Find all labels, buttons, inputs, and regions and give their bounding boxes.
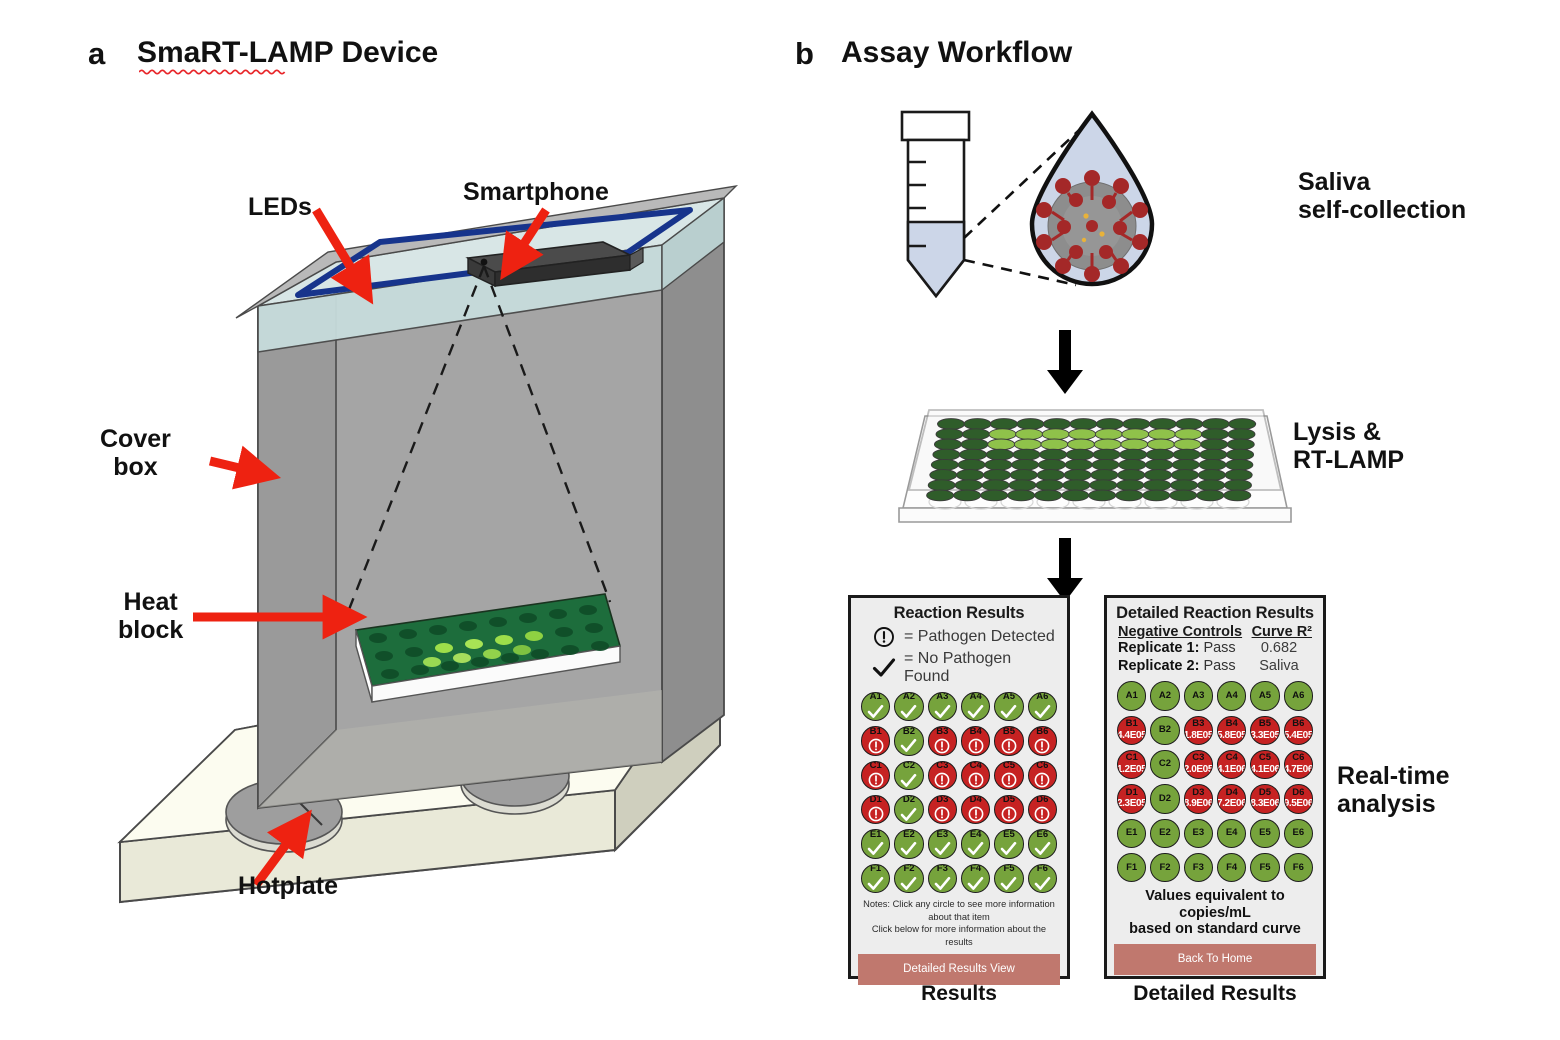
well-id-label: A5 (1003, 692, 1015, 702)
spellcheck-underline-icon (139, 68, 434, 75)
well-a3[interactable]: A3 (928, 692, 957, 721)
well-e2[interactable]: E2 (1150, 819, 1179, 848)
results-well-grid[interactable]: A1A2A3A4A5A6B1B2B3B4B5B6C1C2C3C4C5C6D1D2… (858, 692, 1060, 893)
label-saliva-self-collection: Saliva self-collection (1298, 168, 1498, 224)
well-id-label: A5 (1259, 691, 1271, 701)
well-id-label: E2 (903, 830, 915, 840)
well-d4[interactable]: D4 (961, 795, 990, 824)
replicate-1-value: Pass (1203, 640, 1235, 656)
results-title: Reaction Results (858, 604, 1060, 623)
well-a4[interactable]: A4 (1217, 681, 1246, 710)
well-a2[interactable]: A2 (1150, 681, 1179, 710)
saliva-collection-illustration (880, 100, 1300, 330)
well-id-label: B5 (1259, 719, 1271, 729)
well-id-label: A6 (1036, 692, 1048, 702)
checkmark-icon (1034, 703, 1051, 720)
well-concentration-value: 7.2E06 (1217, 799, 1246, 809)
detailed-results-caption: Detailed Results (1104, 982, 1326, 1006)
well-a3[interactable]: A3 (1184, 681, 1213, 710)
well-a6[interactable]: A6 (1028, 692, 1057, 721)
panel-b-letter: b (795, 36, 814, 72)
well-id-label: E5 (1003, 830, 1015, 840)
well-id-label: E4 (1226, 828, 1238, 838)
well-c5[interactable]: C54.1E06 (1250, 750, 1279, 779)
well-e2[interactable]: E2 (894, 829, 923, 858)
well-id-label: D4 (970, 795, 982, 805)
well-id-label: D5 (1259, 788, 1271, 798)
well-b4[interactable]: B4 (961, 726, 990, 755)
exclamation-circle-icon (1034, 806, 1051, 823)
well-a5[interactable]: A5 (1250, 681, 1279, 710)
checkmark-icon (900, 772, 917, 789)
well-concentration-value: 4.1E06 (1217, 765, 1246, 775)
well-concentration-value: 5.4E05 (1284, 731, 1313, 741)
well-concentration-value: 1.8E05 (1184, 731, 1213, 741)
checkmark-icon (934, 875, 951, 892)
well-d5[interactable]: D5 (994, 795, 1023, 824)
well-id-label: B2 (1159, 725, 1171, 735)
well-id-label: B6 (1036, 727, 1048, 737)
well-id-label: C4 (970, 761, 982, 771)
well-b6[interactable]: B6 (1028, 726, 1057, 755)
well-c6[interactable]: C64.7E06 (1284, 750, 1313, 779)
exclamation-circle-icon (934, 806, 951, 823)
well-id-label: F4 (1226, 863, 1237, 873)
checkmark-icon (967, 840, 984, 857)
callout-heat-block: Heat block (118, 588, 183, 644)
replicate-2-value: Pass (1203, 658, 1235, 674)
well-f5[interactable]: F5 (994, 864, 1023, 893)
well-b5[interactable]: B53.3E05 (1250, 716, 1279, 745)
well-e4[interactable]: E4 (1217, 819, 1246, 848)
checkmark-icon (1000, 703, 1017, 720)
well-b1[interactable]: B14.4E05 (1117, 716, 1146, 745)
sample-type-value: Saliva (1248, 658, 1310, 676)
well-c5[interactable]: C5 (994, 761, 1023, 790)
well-c2[interactable]: C2 (1150, 750, 1179, 779)
checkmark-icon (900, 840, 917, 857)
well-concentration-value: 2.3E05 (1117, 799, 1146, 809)
checkmark-icon (900, 875, 917, 892)
well-id-label: C6 (1036, 761, 1048, 771)
well-c1[interactable]: C1 (861, 761, 890, 790)
well-id-label: E1 (1126, 828, 1138, 838)
well-concentration-value: 3.3E05 (1250, 731, 1279, 741)
well-id-label: F3 (1193, 863, 1204, 873)
well-concentration-value: 9.5E06 (1284, 799, 1313, 809)
well-id-label: F6 (1293, 863, 1304, 873)
results-screen[interactable]: Reaction Results = Pathogen Detected = N… (848, 595, 1070, 979)
detailed-well-grid[interactable]: A1A2A3A4A5A6B14.4E05B2B31.8E05B45.8E05B5… (1114, 681, 1316, 882)
well-id-label: F6 (1037, 864, 1048, 874)
well-id-label: C6 (1292, 753, 1304, 763)
well-c3[interactable]: C32.0E05 (1184, 750, 1213, 779)
exclamation-circle-icon (867, 772, 884, 789)
well-id-label: E1 (870, 830, 882, 840)
callout-leds: LEDs (248, 193, 312, 221)
well-id-label: A6 (1292, 691, 1304, 701)
well-c4[interactable]: C44.1E06 (1217, 750, 1246, 779)
well-f1[interactable]: F1 (861, 864, 890, 893)
replicate-1-row: Replicate 1: Pass 0.682 (1114, 640, 1316, 658)
panel-a-letter: a (88, 36, 105, 72)
well-id-label: C1 (870, 761, 882, 771)
exclamation-circle-icon (867, 737, 884, 754)
well-id-label: D3 (936, 795, 948, 805)
well-id-label: C2 (903, 761, 915, 771)
panel-a-title: SmaRT-LAMP Device (137, 36, 438, 70)
well-id-label: C3 (936, 761, 948, 771)
well-f1[interactable]: F1 (1117, 853, 1146, 882)
well-id-label: D1 (870, 795, 882, 805)
exclamation-circle-icon (1000, 737, 1017, 754)
back-to-home-button[interactable]: Back To Home (1114, 944, 1316, 975)
workflow-arrow-1-icon (1043, 330, 1087, 395)
well-id-label: E5 (1259, 828, 1271, 838)
label-lysis-rt-lamp: Lysis & RT-LAMP (1293, 418, 1493, 474)
well-e3[interactable]: E3 (1184, 819, 1213, 848)
replicate-2-label: Replicate 2: (1118, 658, 1199, 674)
well-b3[interactable]: B3 (928, 726, 957, 755)
well-id-label: B4 (1226, 719, 1238, 729)
exclamation-circle-icon (967, 772, 984, 789)
well-e5[interactable]: E5 (994, 829, 1023, 858)
well-concentration-value: 1.2E05 (1117, 765, 1146, 775)
well-e6[interactable]: E6 (1028, 829, 1057, 858)
well-d2[interactable]: D2 (894, 795, 923, 824)
well-a2[interactable]: A2 (894, 692, 923, 721)
well-id-label: A3 (1192, 691, 1204, 701)
well-id-label: C4 (1226, 753, 1238, 763)
well-id-label: B3 (936, 727, 948, 737)
well-id-label: D5 (1003, 795, 1015, 805)
checkmark-icon (900, 737, 917, 754)
well-id-label: A4 (1226, 691, 1238, 701)
well-f6[interactable]: F6 (1284, 853, 1313, 882)
well-id-label: E3 (1193, 828, 1205, 838)
well-f3[interactable]: F3 (928, 864, 957, 893)
legend-row-positive: = Pathogen Detected (872, 625, 1060, 649)
well-id-label: E6 (1293, 828, 1305, 838)
checkmark-icon (867, 840, 884, 857)
exclamation-circle-icon (1000, 772, 1017, 789)
well-id-label: B4 (970, 727, 982, 737)
well-id-label: C5 (1003, 761, 1015, 771)
well-id-label: B1 (870, 727, 882, 737)
well-d3[interactable]: D3 (928, 795, 957, 824)
well-f2[interactable]: F2 (894, 864, 923, 893)
well-id-label: E4 (970, 830, 982, 840)
well-id-label: B5 (1003, 727, 1015, 737)
results-caption: Results (848, 982, 1070, 1006)
well-id-label: D1 (1126, 788, 1138, 798)
well-c1[interactable]: C11.2E05 (1117, 750, 1146, 779)
smart-lamp-device-illustration (60, 90, 780, 950)
well-id-label: A3 (936, 692, 948, 702)
well-concentration-value: 4.4E05 (1117, 731, 1146, 741)
checkmark-icon (1000, 875, 1017, 892)
well-id-label: C1 (1126, 753, 1138, 763)
checkmark-icon (867, 703, 884, 720)
checkmark-icon (1034, 875, 1051, 892)
well-id-label: A1 (1126, 691, 1138, 701)
detailed-footnote: Values equivalent to copies/mL based on … (1114, 888, 1316, 938)
checkmark-icon (900, 806, 917, 823)
well-id-label: D6 (1292, 788, 1304, 798)
well-id-label: A4 (970, 692, 982, 702)
checkmark-icon (900, 703, 917, 720)
well-concentration-value: 4.7E06 (1284, 765, 1313, 775)
well-b4[interactable]: B45.8E05 (1217, 716, 1246, 745)
well-f2[interactable]: F2 (1150, 853, 1179, 882)
well-e1[interactable]: E1 (861, 829, 890, 858)
well-f4[interactable]: F4 (1217, 853, 1246, 882)
well-id-label: E3 (937, 830, 949, 840)
well-id-label: F3 (937, 864, 948, 874)
well-a6[interactable]: A6 (1284, 681, 1313, 710)
well-concentration-value: 8.3E06 (1250, 799, 1279, 809)
well-id-label: C3 (1192, 753, 1204, 763)
well-id-label: C2 (1159, 759, 1171, 769)
detailed-results-view-button[interactable]: Detailed Results View (858, 954, 1060, 985)
well-e1[interactable]: E1 (1117, 819, 1146, 848)
callout-smartphone: Smartphone (463, 178, 609, 206)
well-f5[interactable]: F5 (1250, 853, 1279, 882)
well-c3[interactable]: C3 (928, 761, 957, 790)
label-real-time-analysis: Real-time analysis (1337, 762, 1537, 818)
well-id-label: F2 (1159, 863, 1170, 873)
well-d6[interactable]: D69.5E06 (1284, 784, 1313, 813)
checkmark-icon (934, 703, 951, 720)
well-a1[interactable]: A1 (1117, 681, 1146, 710)
well-concentration-value: 5.8E05 (1217, 731, 1246, 741)
well-a5[interactable]: A5 (994, 692, 1023, 721)
well-id-label: B6 (1292, 719, 1304, 729)
detailed-subheaders: Negative Controls Curve R² (1114, 624, 1316, 640)
checkmark-icon (967, 703, 984, 720)
well-id-label: D3 (1192, 788, 1204, 798)
well-b3[interactable]: B31.8E05 (1184, 716, 1213, 745)
well-id-label: D2 (1159, 794, 1171, 804)
well-a1[interactable]: A1 (861, 692, 890, 721)
curve-r2-header: Curve R² (1252, 624, 1312, 640)
checkmark-icon (867, 875, 884, 892)
well-e5[interactable]: E5 (1250, 819, 1279, 848)
well-c2[interactable]: C2 (894, 761, 923, 790)
well-d1[interactable]: D1 (861, 795, 890, 824)
well-c6[interactable]: C6 (1028, 761, 1057, 790)
exclamation-circle-icon (867, 806, 884, 823)
exclamation-circle-icon (967, 806, 984, 823)
well-e6[interactable]: E6 (1284, 819, 1313, 848)
well-b1[interactable]: B1 (861, 726, 890, 755)
cover-box-arrow (210, 461, 260, 473)
well-id-label: F1 (870, 864, 881, 874)
detailed-title: Detailed Reaction Results (1114, 604, 1316, 623)
checkmark-icon (1000, 840, 1017, 857)
legend-text-positive: = Pathogen Detected (904, 628, 1055, 646)
callout-cover-box: Cover box (100, 425, 171, 481)
checkmark-icon (934, 840, 951, 857)
well-id-label: B3 (1192, 719, 1204, 729)
well-concentration-value: 4.1E06 (1250, 765, 1279, 775)
well-f6[interactable]: F6 (1028, 864, 1057, 893)
exclamation-circle-icon (872, 625, 896, 649)
well-id-label: A2 (903, 692, 915, 702)
well-id-label: F2 (903, 864, 914, 874)
exclamation-circle-icon (1000, 806, 1017, 823)
results-notes: Notes: Click any circle to see more info… (858, 898, 1060, 948)
well-d1[interactable]: D12.3E05 (1117, 784, 1146, 813)
well-f3[interactable]: F3 (1184, 853, 1213, 882)
well-d6[interactable]: D6 (1028, 795, 1057, 824)
microplate-illustration (895, 390, 1295, 530)
callout-hotplate: Hotplate (238, 872, 338, 900)
well-id-label: F5 (1003, 864, 1014, 874)
exclamation-circle-icon (934, 737, 951, 754)
replicate-2-row: Replicate 2: Pass Saliva (1114, 658, 1316, 676)
well-id-label: F4 (970, 864, 981, 874)
well-d3[interactable]: D38.9E06 (1184, 784, 1213, 813)
checkmark-icon (967, 875, 984, 892)
well-id-label: D2 (903, 795, 915, 805)
curve-r2-value: 0.682 (1248, 640, 1310, 658)
well-concentration-value: 8.9E06 (1184, 799, 1213, 809)
exclamation-circle-icon (1034, 737, 1051, 754)
well-id-label: C5 (1259, 753, 1271, 763)
well-id-label: F1 (1126, 863, 1137, 873)
checkmark-icon (872, 656, 896, 680)
negative-controls-header: Negative Controls (1118, 624, 1242, 640)
well-id-label: D6 (1036, 795, 1048, 805)
well-id-label: A1 (870, 692, 882, 702)
well-a4[interactable]: A4 (961, 692, 990, 721)
well-id-label: D4 (1226, 788, 1238, 798)
well-concentration-value: 2.0E05 (1184, 765, 1213, 775)
well-e4[interactable]: E4 (961, 829, 990, 858)
well-id-label: E6 (1037, 830, 1049, 840)
well-e3[interactable]: E3 (928, 829, 957, 858)
well-b6[interactable]: B65.4E05 (1284, 716, 1313, 745)
legend-row-negative: = No Pathogen Found (872, 650, 1060, 686)
well-id-label: F5 (1259, 863, 1270, 873)
well-d2[interactable]: D2 (1150, 784, 1179, 813)
well-b5[interactable]: B5 (994, 726, 1023, 755)
well-d4[interactable]: D47.2E06 (1217, 784, 1246, 813)
well-id-label: B1 (1126, 719, 1138, 729)
detailed-results-screen[interactable]: Detailed Reaction Results Negative Contr… (1104, 595, 1326, 979)
well-d5[interactable]: D58.3E06 (1250, 784, 1279, 813)
well-c4[interactable]: C4 (961, 761, 990, 790)
well-id-label: B2 (903, 727, 915, 737)
panel-b-title: Assay Workflow (841, 36, 1072, 70)
exclamation-circle-icon (1034, 772, 1051, 789)
well-b2[interactable]: B2 (894, 726, 923, 755)
exclamation-circle-icon (934, 772, 951, 789)
legend-text-negative: = No Pathogen Found (904, 650, 1060, 686)
checkmark-icon (1034, 840, 1051, 857)
replicate-1-label: Replicate 1: (1118, 640, 1199, 656)
well-f4[interactable]: F4 (961, 864, 990, 893)
well-b2[interactable]: B2 (1150, 716, 1179, 745)
workflow-arrow-2-icon (1043, 538, 1087, 603)
exclamation-circle-icon (967, 737, 984, 754)
well-id-label: E2 (1159, 828, 1171, 838)
well-id-label: A2 (1159, 691, 1171, 701)
